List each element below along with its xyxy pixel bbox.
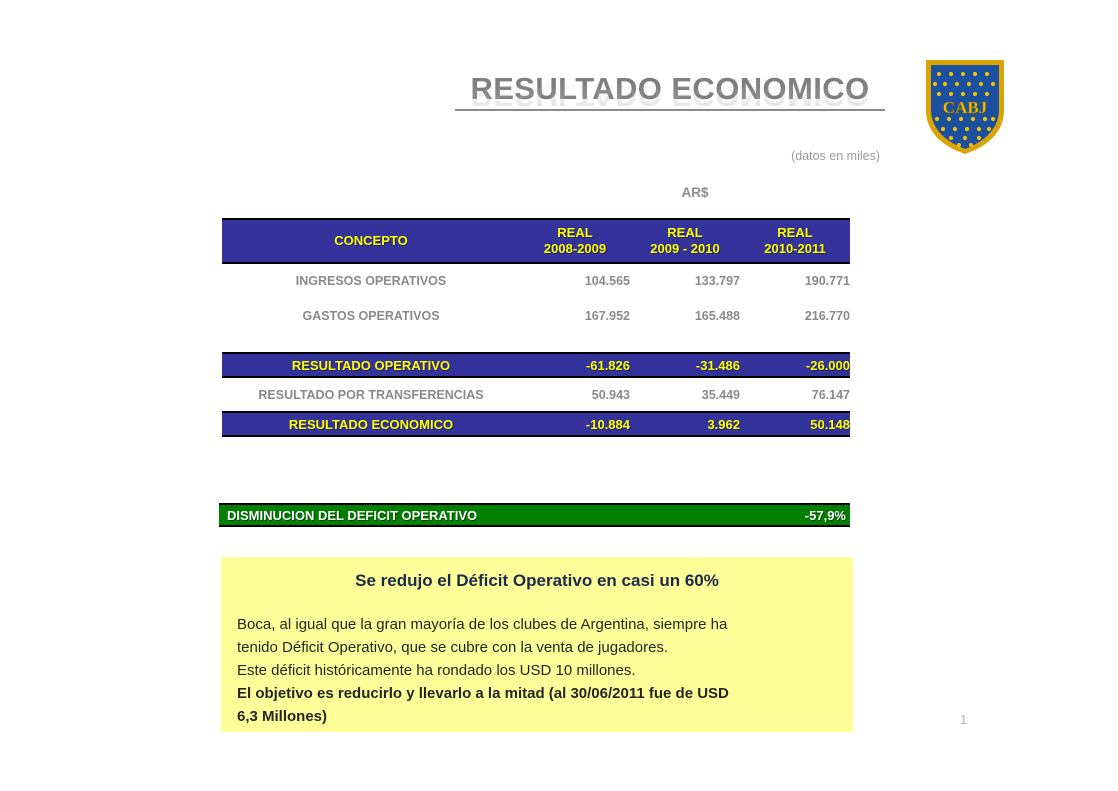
row-value: 3.962 — [630, 412, 740, 436]
row-value: 104.565 — [520, 263, 630, 298]
row-value: 216.770 — [740, 298, 850, 333]
row-value: -31.486 — [630, 353, 740, 377]
row-value: 165.488 — [630, 298, 740, 333]
table-header-row: CONCEPTO REAL 2008-2009 REAL 2009 - 2010… — [222, 219, 850, 263]
column-header-line2: 2010-2011 — [740, 241, 850, 257]
column-header-2009-2010: REAL 2009 - 2010 — [630, 219, 740, 263]
callout-box: Se redujo el Déficit Operativo en casi u… — [221, 557, 853, 732]
callout-line: El objetivo es reducirlo y llevarlo a la… — [237, 682, 837, 705]
row-value: -61.826 — [520, 353, 630, 377]
cabj-shield-icon: CABJ — [923, 57, 1007, 155]
table-row-highlight: RESULTADO OPERATIVO -61.826 -31.486 -26.… — [222, 353, 850, 377]
row-value: 167.952 — [520, 298, 630, 333]
row-label: RESULTADO ECONOMICO — [222, 412, 520, 436]
table-row: INGRESOS OPERATIVOS 104.565 133.797 190.… — [222, 263, 850, 298]
column-header-line1: REAL — [667, 225, 702, 240]
row-label: RESULTADO POR TRANSFERENCIAS — [222, 377, 520, 412]
table-spacer — [222, 333, 850, 353]
column-header-concepto: CONCEPTO — [222, 219, 520, 263]
row-label: RESULTADO OPERATIVO — [222, 353, 520, 377]
row-label: GASTOS OPERATIVOS — [222, 298, 520, 333]
row-value: 190.771 — [740, 263, 850, 298]
column-header-line1: REAL — [777, 225, 812, 240]
column-header-line1: REAL — [557, 225, 592, 240]
column-header-2010-2011: REAL 2010-2011 — [740, 219, 850, 263]
callout-heading: Se redujo el Déficit Operativo en casi u… — [237, 571, 837, 591]
cabj-logo-text: CABJ — [943, 98, 988, 117]
column-header-line2: 2009 - 2010 — [630, 241, 740, 257]
row-label: INGRESOS OPERATIVOS — [222, 263, 520, 298]
financial-results-table: CONCEPTO REAL 2008-2009 REAL 2009 - 2010… — [222, 218, 850, 437]
row-value: 133.797 — [630, 263, 740, 298]
table-row: GASTOS OPERATIVOS 167.952 165.488 216.77… — [222, 298, 850, 333]
table-row-highlight: RESULTADO ECONOMICO -10.884 3.962 50.148 — [222, 412, 850, 436]
banner-label: DISMINUCION DEL DEFICIT OPERATIVO — [227, 508, 477, 523]
callout-line: Boca, al igual que la gran mayoría de lo… — [237, 613, 837, 636]
callout-line: 6,3 Millones) — [237, 705, 837, 728]
row-value: 50.943 — [520, 377, 630, 412]
deficit-reduction-banner: DISMINUCION DEL DEFICIT OPERATIVO -57,9% — [219, 503, 850, 527]
table-row: RESULTADO POR TRANSFERENCIAS 50.943 35.4… — [222, 377, 850, 412]
row-value: 35.449 — [630, 377, 740, 412]
title-block: RESULTADO ECONOMICO RESULTADO ECONOMICO — [455, 72, 885, 152]
callout-line: tenido Déficit Operativo, que se cubre c… — [237, 636, 837, 659]
units-note: (datos en miles) — [690, 149, 880, 163]
cabj-shield-logo: CABJ — [923, 57, 1007, 155]
row-value: -26.000 — [740, 353, 850, 377]
column-header-line2: 2008-2009 — [520, 241, 630, 257]
callout-line: Este déficit históricamente ha rondado l… — [237, 659, 837, 682]
row-value: -10.884 — [520, 412, 630, 436]
column-header-2008-2009: REAL 2008-2009 — [520, 219, 630, 263]
page-title-reflection: RESULTADO ECONOMICO — [455, 78, 885, 112]
row-value: 76.147 — [740, 377, 850, 412]
banner-value: -57,9% — [805, 508, 846, 523]
page-number: 1 — [960, 712, 967, 727]
currency-label: AR$ — [600, 185, 790, 200]
row-value: 50.148 — [740, 412, 850, 436]
